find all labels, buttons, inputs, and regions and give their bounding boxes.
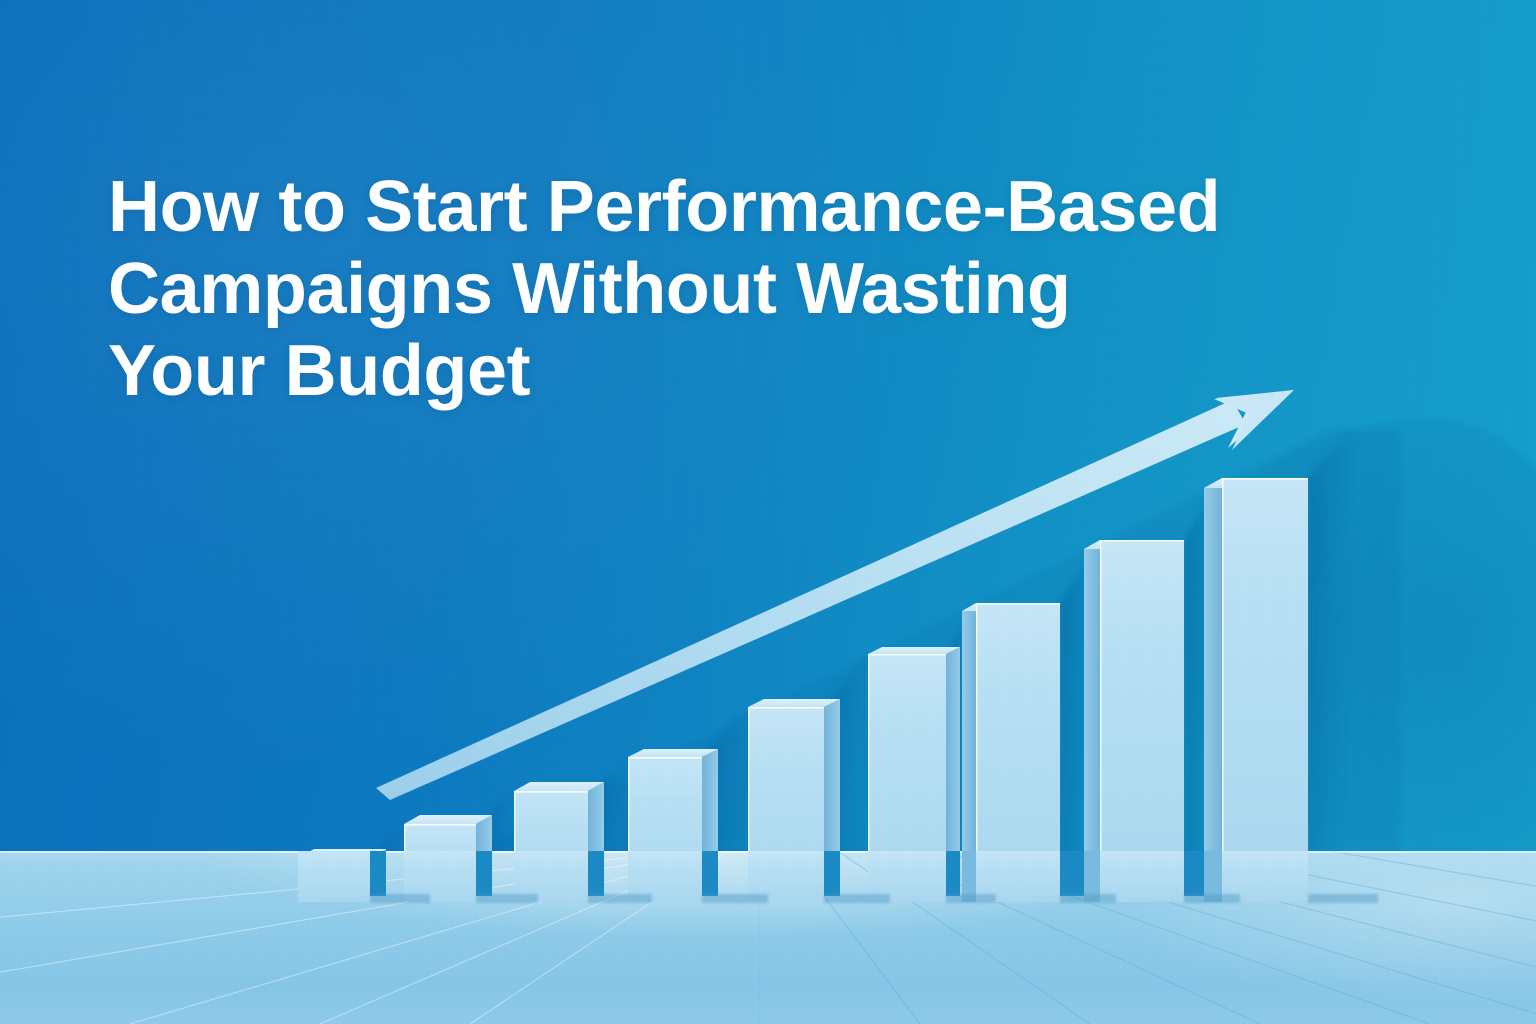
bar-8 bbox=[1084, 540, 1184, 902]
hero-banner: How to Start Performance-Based Campaigns… bbox=[0, 0, 1536, 1024]
bar-floor-reflections bbox=[298, 851, 1308, 881]
bar-9 bbox=[1204, 478, 1308, 902]
page-title: How to Start Performance-Based Campaigns… bbox=[108, 166, 1468, 412]
floor bbox=[0, 851, 1536, 1024]
floor-wall-edge bbox=[0, 851, 1536, 853]
floor-perspective-lines bbox=[0, 851, 1536, 1024]
